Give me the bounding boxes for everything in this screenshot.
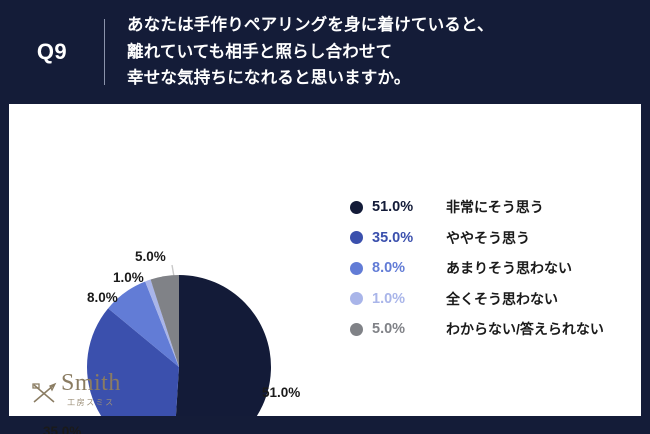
legend-percent: 8.0% <box>372 260 446 276</box>
pie-label-51: 51.0% <box>262 385 300 400</box>
pie-chart: 51.0% 35.0% 8.0% 1.0% 5.0% <box>9 104 349 416</box>
legend-item-3[interactable]: 1.0% 全くそう思わない <box>350 284 640 315</box>
logo-name: Smith <box>61 371 121 395</box>
legend-label: あまりそう思わない <box>446 258 572 278</box>
legend-item-4[interactable]: 5.0% わからない/答えられない <box>350 314 640 345</box>
pie-chart-svg <box>9 104 349 416</box>
legend-percent: 5.0% <box>372 321 446 337</box>
legend-percent: 1.0% <box>372 291 446 307</box>
question-number: Q9 <box>0 39 104 65</box>
chart-legend: 51.0% 非常にそう思う 35.0% ややそう思う 8.0% あまりそう思わな… <box>350 192 640 345</box>
legend-label: 非常にそう思う <box>446 197 544 217</box>
slide-root: Q9 あなたは手作りペアリングを身に着けていると、 離れていても相手と照らし合わ… <box>0 0 650 434</box>
legend-color-dot-icon <box>350 292 363 305</box>
question-text: あなたは手作りペアリングを身に着けていると、 離れていても相手と照らし合わせて … <box>105 12 494 92</box>
legend-label: ややそう思う <box>446 228 530 248</box>
chart-card: 51.0% 35.0% 8.0% 1.0% 5.0% 51.0% 非常にそう思う… <box>9 104 641 416</box>
legend-label: 全くそう思わない <box>446 289 558 309</box>
pie-slice-0[interactable] <box>173 275 271 416</box>
pie-label-35: 35.0% <box>43 424 81 434</box>
legend-percent: 35.0% <box>372 230 446 246</box>
legend-label: わからない/答えられない <box>446 319 604 339</box>
legend-item-1[interactable]: 35.0% ややそう思う <box>350 223 640 254</box>
pie-label-1: 1.0% <box>113 270 144 285</box>
brand-logo: Smith 工房スミス <box>31 371 121 408</box>
logo-text: Smith 工房スミス <box>61 371 121 408</box>
question-header: Q9 あなたは手作りペアリングを身に着けていると、 離れていても相手と照らし合わ… <box>0 0 650 104</box>
legend-percent: 51.0% <box>372 199 446 215</box>
legend-color-dot-icon <box>350 262 363 275</box>
logo-subtitle: 工房スミス <box>67 397 115 408</box>
legend-item-0[interactable]: 51.0% 非常にそう思う <box>350 192 640 223</box>
question-line-3: 幸せな気持ちになれると思いますか。 <box>127 65 494 92</box>
pie-label-8: 8.0% <box>87 290 118 305</box>
question-line-1: あなたは手作りペアリングを身に着けていると、 <box>127 12 494 39</box>
legend-color-dot-icon <box>350 201 363 214</box>
legend-item-2[interactable]: 8.0% あまりそう思わない <box>350 253 640 284</box>
legend-color-dot-icon <box>350 231 363 244</box>
crossed-tools-icon <box>31 381 57 405</box>
legend-color-dot-icon <box>350 323 363 336</box>
pie-label-5: 5.0% <box>135 249 166 264</box>
question-line-2: 離れていても相手と照らし合わせて <box>127 39 494 66</box>
